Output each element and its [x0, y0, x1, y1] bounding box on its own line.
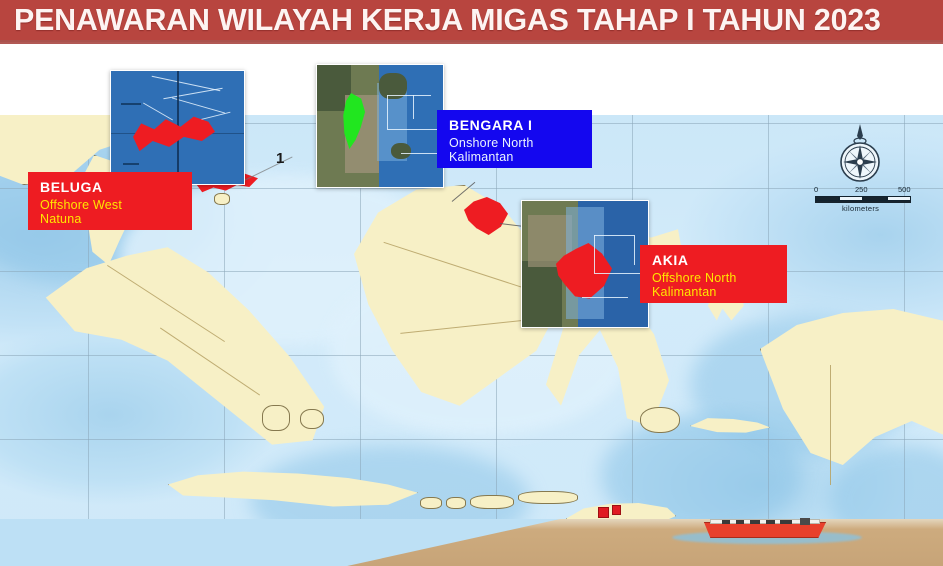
callout-beluga-sub-line2: Natuna	[40, 212, 182, 227]
ship-container	[750, 520, 760, 524]
inset-marker	[121, 103, 141, 105]
inset-block-boundary	[582, 297, 628, 298]
ship-container	[722, 520, 730, 524]
inset-block-boundary	[413, 95, 414, 119]
inset-island	[391, 143, 411, 159]
block-marker	[598, 507, 609, 518]
map-marker-number-1: 1	[276, 151, 284, 166]
inset-block-boundary	[594, 235, 634, 236]
inset-beluga[interactable]	[110, 70, 245, 185]
callout-beluga-title: BELUGA	[40, 179, 182, 196]
inset-bengara[interactable]	[316, 64, 444, 188]
inset-block-boundary	[387, 95, 431, 96]
inset-terrain	[522, 261, 562, 327]
slide-canvas: PENAWARAN WILAYAH KERJA MIGAS TAHAP I TA…	[0, 0, 943, 566]
inset-block-boundary	[387, 129, 439, 130]
admin-border	[830, 365, 831, 485]
callout-akia-sub-line1: Offshore North	[652, 271, 777, 286]
ship-bridge	[800, 518, 810, 525]
inset-block-boundary	[594, 235, 595, 273]
scale-tick-500: 500	[898, 186, 911, 194]
callout-akia[interactable]: AKIA Offshore North Kalimantan	[640, 245, 787, 303]
block-marker	[612, 505, 621, 515]
landmass-sumbawa	[470, 495, 514, 509]
compass-rose-svg	[834, 124, 886, 186]
inset-block-boundary	[594, 273, 642, 274]
callout-beluga[interactable]: BELUGA Offshore West Natuna	[28, 172, 192, 230]
callout-bengara-sub-line1: Onshore North	[449, 136, 582, 151]
landmass-lombok	[446, 497, 466, 509]
inset-block-boundary	[634, 235, 635, 265]
callout-akia-sub-line2: Kalimantan	[652, 285, 777, 300]
ship-container	[736, 520, 744, 524]
callout-beluga-sub-line1: Offshore West	[40, 198, 182, 213]
callout-bengara[interactable]: BENGARA I Onshore North Kalimantan	[437, 110, 592, 168]
scale-baseline	[815, 201, 911, 203]
inset-akia[interactable]	[521, 200, 649, 328]
scale-bar-icon: 0 250 500 kilometers	[814, 186, 914, 212]
landmass-natuna	[214, 193, 230, 205]
scale-tick-0: 0	[814, 186, 818, 194]
page-title: PENAWARAN WILAYAH KERJA MIGAS TAHAP I TA…	[14, 1, 881, 39]
graticule-line	[768, 115, 769, 543]
landmass-bangka	[262, 405, 290, 431]
ship-container	[766, 520, 775, 524]
landmass-belitung	[300, 409, 324, 429]
callout-bengara-title: BENGARA I	[449, 117, 582, 134]
scale-units-label: kilometers	[842, 205, 879, 213]
compass-rose-icon	[834, 124, 886, 186]
landmass-bali	[420, 497, 442, 509]
ship-hull	[700, 522, 830, 538]
graticule-line	[0, 439, 943, 440]
scale-tick-250: 250	[855, 186, 868, 194]
callout-bengara-sub-line2: Kalimantan	[449, 150, 582, 165]
inset-block-boundary	[401, 153, 437, 154]
ship-icon	[700, 512, 840, 546]
header-band: PENAWARAN WILAYAH KERJA MIGAS TAHAP I TA…	[0, 0, 943, 40]
landmass-flores	[518, 491, 578, 504]
callout-akia-title: AKIA	[652, 252, 777, 269]
inset-block-boundary	[387, 95, 388, 129]
inset-marker	[123, 163, 139, 165]
landmass-buru	[640, 407, 680, 433]
ship-container	[780, 520, 792, 524]
